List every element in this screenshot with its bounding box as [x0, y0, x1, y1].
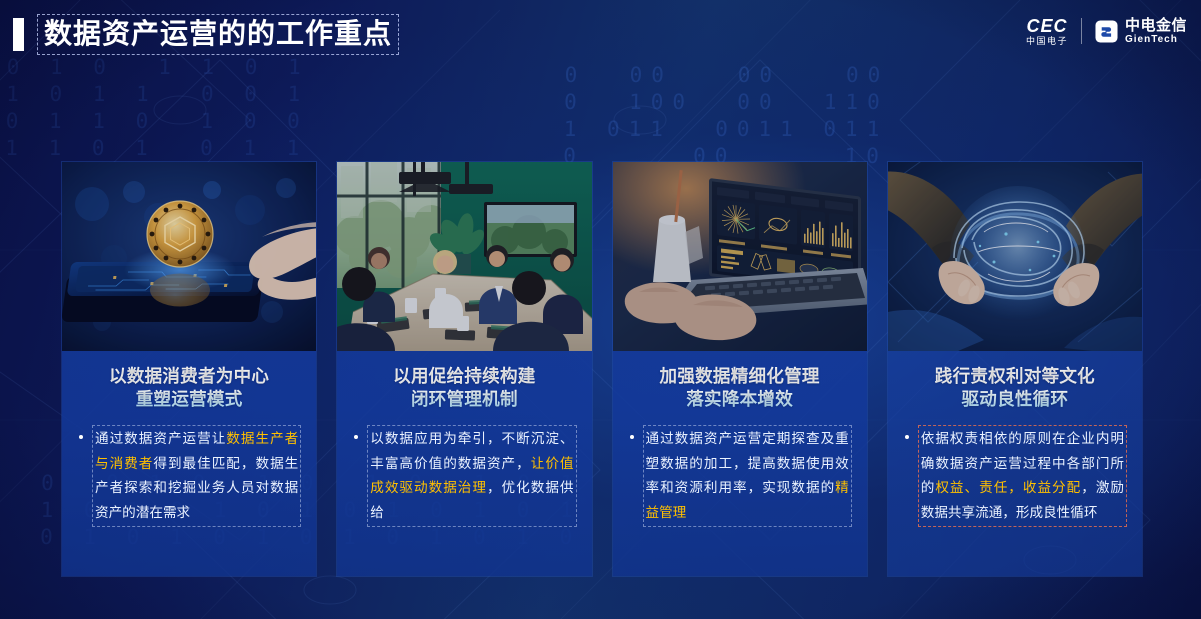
card-1-image	[62, 162, 316, 351]
card-2-body: 以用促给持续构建 闭环管理机制 以数据应用为牵引，不断沉淀、丰富高价值的数据资产…	[337, 351, 591, 576]
card-3-text-0: 通过数据资产运营定期探查及重塑数据的加工，提高数据使用效率和资源利用率，实现数据…	[646, 431, 849, 495]
card-row: 以数据消费者为中心 重塑运营模式 通过数据资产运营让数据生产者与消费者得到最佳匹…	[62, 162, 1142, 576]
card-1-text-0: 通过数据资产运营让	[95, 431, 226, 446]
brand-divider	[1081, 18, 1082, 44]
card-2-paragraph[interactable]: 以数据应用为牵引，不断沉淀、丰富高价值的数据资产，让价值成效驱动数据治理，优化数…	[367, 425, 576, 527]
card-1-title-line2: 重塑运营模式	[77, 388, 301, 411]
logo-cec-en: CEC	[1026, 17, 1067, 35]
card-2-bullet-row: 以数据应用为牵引，不断沉淀、丰富高价值的数据资产，让价值成效驱动数据治理，优化数…	[352, 425, 576, 527]
bullet-point-icon	[79, 435, 83, 439]
card-3-title: 加强数据精细化管理 落实降本增效	[628, 365, 852, 411]
card-3-body: 加强数据精细化管理 落实降本增效 通过数据资产运营定期探查及重塑数据的加工，提高…	[613, 351, 867, 576]
card-2-title-line1: 以用促给持续构建	[352, 365, 576, 388]
card-3-bullet-row: 通过数据资产运营定期探查及重塑数据的加工，提高数据使用效率和资源利用率，实现数据…	[628, 425, 852, 527]
card-3-title-line2: 落实降本增效	[628, 388, 852, 411]
content-card-1[interactable]: 以数据消费者为中心 重塑运营模式 通过数据资产运营让数据生产者与消费者得到最佳匹…	[62, 162, 316, 576]
content-card-4[interactable]: 践行责权利对等文化 驱动良性循环 依据权责相依的原则在企业内明确数据资产运营过程…	[888, 162, 1142, 576]
gientech-en: GienTech	[1125, 35, 1187, 45]
gientech-mark-icon	[1095, 20, 1118, 43]
card-2-title: 以用促给持续构建 闭环管理机制	[352, 365, 576, 411]
brand-logos: CEC 中国电子 中电金信 GienTech	[1026, 14, 1187, 48]
slide-header: 数据资产运营的的工作重点 CEC 中国电子 中电金信 GienTech	[0, 0, 1201, 64]
card-4-paragraph[interactable]: 依据权责相依的原则在企业内明确数据资产运营过程中各部门所的权益、责任，收益分配，…	[918, 425, 1127, 527]
card-1-bullet-row: 通过数据资产运营让数据生产者与消费者得到最佳匹配，数据生产者探索和挖掘业务人员对…	[77, 425, 301, 527]
bullet-point-icon	[354, 435, 358, 439]
card-2-image	[337, 162, 591, 351]
card-4-title-line1: 践行责权利对等文化	[903, 365, 1127, 388]
card-2-title-line2: 闭环管理机制	[352, 388, 576, 411]
gientech-cn: 中电金信	[1125, 18, 1187, 33]
card-3-image	[613, 162, 867, 351]
content-card-2[interactable]: 以用促给持续构建 闭环管理机制 以数据应用为牵引，不断沉淀、丰富高价值的数据资产…	[337, 162, 591, 576]
card-4-title: 践行责权利对等文化 驱动良性循环	[903, 365, 1127, 411]
card-4-text-1-highlight: 权益、责任，收益分配	[935, 480, 1081, 495]
card-4-bullet-row: 依据权责相依的原则在企业内明确数据资产运营过程中各部门所的权益、责任，收益分配，…	[903, 425, 1127, 527]
bullet-point-icon	[905, 435, 909, 439]
card-1-paragraph[interactable]: 通过数据资产运营让数据生产者与消费者得到最佳匹配，数据生产者探索和挖掘业务人员对…	[92, 425, 301, 527]
logo-cec: CEC 中国电子	[1026, 17, 1068, 46]
bullet-point-icon	[630, 435, 634, 439]
card-1-title: 以数据消费者为中心 重塑运营模式	[77, 365, 301, 411]
card-3-paragraph[interactable]: 通过数据资产运营定期探查及重塑数据的加工，提高数据使用效率和资源利用率，实现数据…	[643, 425, 852, 527]
title-accent-bar	[13, 18, 24, 51]
card-4-image	[888, 162, 1142, 351]
logo-gientech: 中电金信 GienTech	[1095, 18, 1187, 45]
gientech-wordmark: 中电金信 GienTech	[1125, 18, 1187, 45]
card-4-title-line2: 驱动良性循环	[903, 388, 1127, 411]
slide-root: 0 1 0 1 1 0 1 1 0 1 1 0 0 1 0 1 1 0 1 0 …	[0, 0, 1201, 619]
page-title[interactable]: 数据资产运营的的工作重点	[13, 14, 399, 54]
card-1-title-line1: 以数据消费者为中心	[77, 365, 301, 388]
page-title-text: 数据资产运营的的工作重点	[37, 14, 399, 55]
card-3-title-line1: 加强数据精细化管理	[628, 365, 852, 388]
content-card-3[interactable]: 加强数据精细化管理 落实降本增效 通过数据资产运营定期探查及重塑数据的加工，提高…	[613, 162, 867, 576]
card-4-body: 践行责权利对等文化 驱动良性循环 依据权责相依的原则在企业内明确数据资产运营过程…	[888, 351, 1142, 576]
logo-cec-cn: 中国电子	[1026, 37, 1068, 46]
card-1-body: 以数据消费者为中心 重塑运营模式 通过数据资产运营让数据生产者与消费者得到最佳匹…	[62, 351, 316, 576]
